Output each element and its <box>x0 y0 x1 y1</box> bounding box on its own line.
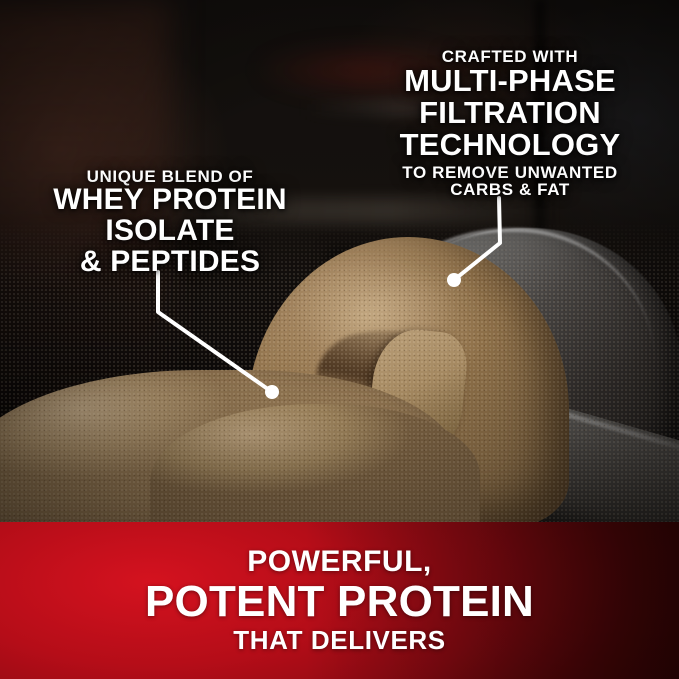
callout-right-subtext-1: TO REMOVE UNWANTED <box>362 164 658 181</box>
leader-dot-left <box>265 385 279 399</box>
callout-right-headline-2: FILTRATION <box>362 97 658 129</box>
banner-text-block: POWERFUL, POTENT PROTEIN THAT DELIVERS <box>0 522 679 679</box>
leader-line-left <box>158 272 272 392</box>
banner-line-3: THAT DELIVERS <box>233 626 445 655</box>
callout-right-headline-3: TECHNOLOGY <box>362 129 658 161</box>
callout-left-headline-2: ISOLATE <box>30 216 310 247</box>
bottom-red-banner: POWERFUL, POTENT PROTEIN THAT DELIVERS <box>0 522 679 679</box>
callout-right-subtext-2: CARBS & FAT <box>362 181 658 198</box>
product-photo: UNIQUE BLEND OF WHEY PROTEIN ISOLATE & P… <box>0 0 679 522</box>
callout-left-headline-1: WHEY PROTEIN <box>30 185 310 216</box>
leader-line-right <box>454 198 500 280</box>
callout-right: CRAFTED WITH MULTI-PHASE FILTRATION TECH… <box>362 48 658 198</box>
leader-dot-right <box>447 273 461 287</box>
callout-right-headline-1: MULTI-PHASE <box>362 65 658 97</box>
callout-left: UNIQUE BLEND OF WHEY PROTEIN ISOLATE & P… <box>30 168 310 278</box>
banner-line-2: POTENT PROTEIN <box>145 578 534 626</box>
banner-line-1: POWERFUL, <box>247 546 432 578</box>
product-feature-image: UNIQUE BLEND OF WHEY PROTEIN ISOLATE & P… <box>0 0 679 679</box>
callout-left-headline-3: & PEPTIDES <box>30 247 310 278</box>
